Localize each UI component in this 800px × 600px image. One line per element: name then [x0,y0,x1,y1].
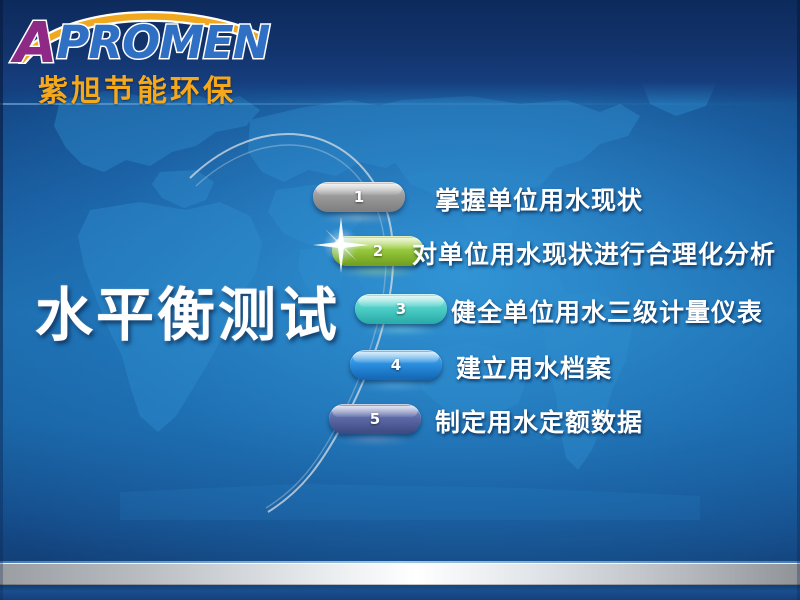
step-label-1: 掌握单位用水现状 [435,181,643,217]
badge-glow-5 [335,435,415,444]
step-number-2: 2 [332,236,424,266]
step-badge-2[interactable]: 2 [332,236,424,266]
logo-wordmark: APROMEN [14,12,269,68]
step-number-4: 4 [350,350,442,380]
step-label-2: 对单位用水现状进行合理化分析 [412,235,776,271]
badge-glow-4 [356,381,436,390]
silver-divider-band [0,563,800,585]
logo-rest: PROMEN [56,16,269,69]
page-title: 水平衡测试 [35,268,340,352]
step-label-4: 建立用水档案 [456,349,612,385]
step-badge-4[interactable]: 4 [350,350,442,380]
step-label-3: 健全单位用水三级计量仪表 [451,293,763,329]
badge-glow-1 [319,213,399,222]
step-label-5: 制定用水定额数据 [435,403,643,439]
logo-chinese-name: 紫旭节能环保 [38,66,236,110]
left-edge-shadow [0,0,3,600]
step-badge-3[interactable]: 3 [355,294,447,324]
footer-bottom-strip [0,585,800,600]
presentation-slide: APROMEN 紫旭节能环保 水平衡测试 1 掌握单位用水现状 2 对单位用水现… [0,0,800,600]
badge-glow-2 [338,267,418,276]
step-number-3: 3 [355,294,447,324]
step-badge-1[interactable]: 1 [313,182,405,212]
step-number-5: 5 [329,404,421,434]
step-badge-5[interactable]: 5 [329,404,421,434]
step-number-1: 1 [313,182,405,212]
badge-glow-3 [361,325,441,334]
company-logo[interactable]: APROMEN 紫旭节能环保 [8,4,308,104]
